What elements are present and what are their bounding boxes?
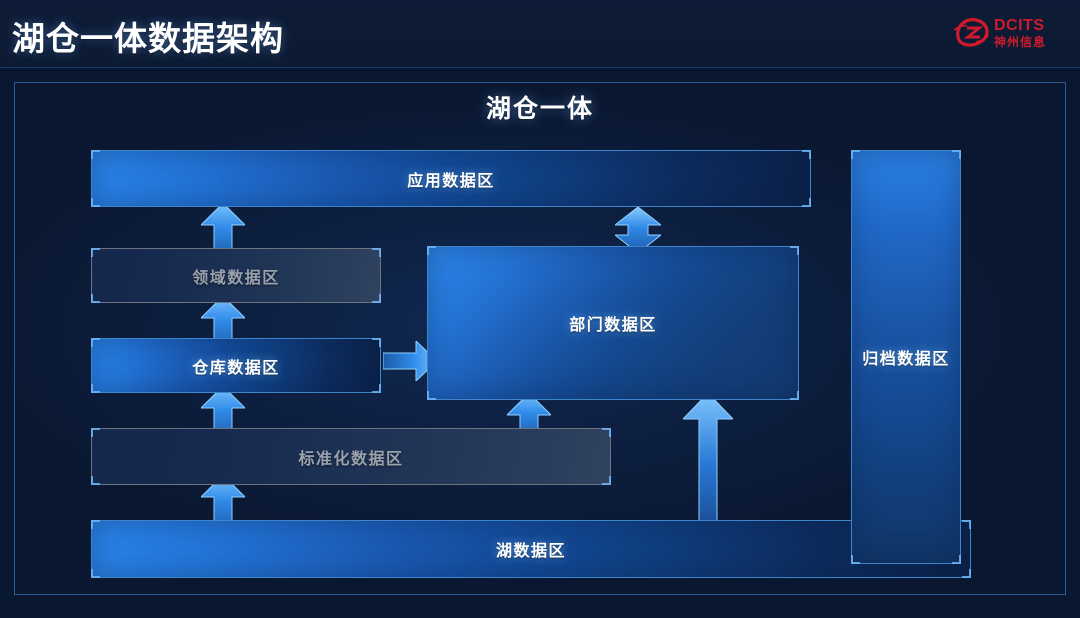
arrow-lake-to-department — [683, 393, 733, 523]
zone-label-domain-data: 领域数据区 — [192, 264, 280, 288]
corner-marker — [952, 555, 961, 564]
dcits-swirl-icon — [954, 16, 990, 50]
diagram-title: 湖仓一体 — [15, 89, 1065, 125]
page-header: 湖仓一体数据架构 DCITS 神州信息 — [0, 0, 1080, 68]
zone-app-data[interactable]: 应用数据区 — [91, 150, 811, 207]
zone-department-data[interactable]: 部门数据区 — [427, 246, 799, 400]
corner-marker — [91, 198, 100, 207]
zone-label-warehouse-data: 仓库数据区 — [192, 354, 280, 378]
corner-marker — [802, 198, 811, 207]
zone-label-app-data: 应用数据区 — [407, 167, 495, 191]
logo-text: DCITS 神州信息 — [994, 18, 1046, 48]
corner-marker — [372, 294, 381, 303]
corner-marker — [602, 428, 611, 437]
corner-marker — [802, 150, 811, 159]
corner-marker — [790, 391, 799, 400]
corner-marker — [851, 555, 860, 564]
zone-label-archive-data: 归档数据区 — [862, 345, 950, 369]
corner-marker — [372, 384, 381, 393]
corner-marker — [91, 428, 100, 437]
corner-marker — [427, 246, 436, 255]
logo-latin-name: DCITS — [994, 18, 1046, 34]
corner-marker — [91, 476, 100, 485]
zone-label-standardized-data: 标准化数据区 — [298, 445, 403, 469]
corner-marker — [91, 569, 100, 578]
corner-marker — [91, 338, 100, 347]
zone-label-department-data: 部门数据区 — [569, 311, 657, 335]
corner-marker — [91, 248, 100, 257]
corner-marker — [91, 150, 100, 159]
corner-marker — [962, 569, 971, 578]
zone-domain-data[interactable]: 领域数据区 — [91, 248, 381, 303]
zone-warehouse-data[interactable]: 仓库数据区 — [91, 338, 381, 393]
corner-marker — [851, 150, 860, 159]
zone-label-lake-data: 湖数据区 — [496, 537, 566, 561]
corner-marker — [602, 476, 611, 485]
diagram-frame: 湖仓一体 — [14, 82, 1066, 595]
zone-archive-data[interactable]: 归档数据区 — [851, 150, 961, 564]
dcits-logo: DCITS 神州信息 — [954, 10, 1066, 56]
corner-marker — [952, 150, 961, 159]
corner-marker — [372, 248, 381, 257]
logo-chinese-name: 神州信息 — [994, 36, 1046, 48]
corner-marker — [91, 384, 100, 393]
zone-lake-data[interactable]: 湖数据区 — [91, 520, 971, 578]
corner-marker — [372, 338, 381, 347]
corner-marker — [427, 391, 436, 400]
corner-marker — [790, 246, 799, 255]
page-title: 湖仓一体数据架构 — [12, 12, 284, 60]
corner-marker — [91, 294, 100, 303]
corner-marker — [962, 520, 971, 529]
corner-marker — [91, 520, 100, 529]
zone-standardized-data[interactable]: 标准化数据区 — [91, 428, 611, 485]
